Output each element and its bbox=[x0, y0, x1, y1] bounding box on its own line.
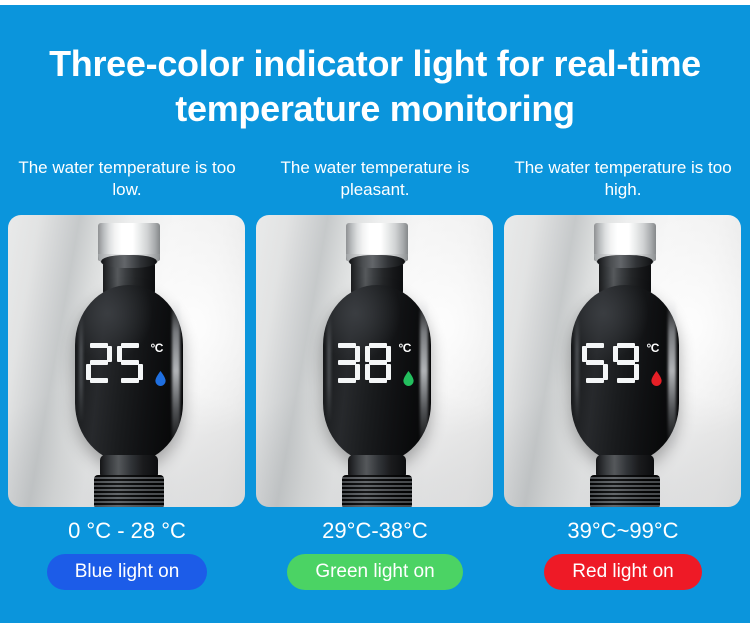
product-photo-green: °C bbox=[256, 215, 493, 507]
product-photo-row: °C bbox=[0, 215, 750, 507]
title-line-1: Three-color indicator light for real-tim… bbox=[49, 43, 701, 84]
celsius-unit: °C bbox=[399, 342, 411, 354]
caption-too-high: The water temperature is too high. bbox=[499, 157, 747, 201]
threaded-base bbox=[94, 475, 164, 507]
range-blue: 0 °C - 28 °C bbox=[3, 517, 251, 545]
product-photo-red: °C bbox=[504, 215, 741, 507]
lcd-display: °C bbox=[571, 343, 679, 405]
temperature-digits bbox=[86, 343, 143, 383]
pill-wrap-red: Red light on bbox=[499, 554, 747, 590]
lcd-display: °C bbox=[75, 343, 183, 405]
light-status-row: Blue light on Green light on Red light o… bbox=[0, 554, 750, 590]
threaded-base bbox=[590, 475, 660, 507]
water-drop-icon bbox=[403, 371, 414, 386]
water-drop-icon bbox=[651, 371, 662, 386]
product-photo-blue: °C bbox=[8, 215, 245, 507]
device-oval-body: °C bbox=[75, 285, 183, 463]
lcd-digit bbox=[117, 343, 143, 383]
device-lower-neck bbox=[596, 455, 654, 477]
lcd-digit bbox=[86, 343, 112, 383]
shower-thermometer-device: °C bbox=[565, 223, 685, 507]
page-title: Three-color indicator light for real-tim… bbox=[0, 41, 750, 131]
caption-row: The water temperature is too low. The wa… bbox=[0, 157, 750, 207]
device-oval-body: °C bbox=[323, 285, 431, 463]
lcd-display: °C bbox=[323, 343, 431, 405]
status-badge-blue-light: Blue light on bbox=[47, 554, 208, 590]
threaded-base bbox=[342, 475, 412, 507]
shower-thermometer-device: °C bbox=[317, 223, 437, 507]
status-badge-red-light: Red light on bbox=[544, 554, 701, 590]
temperature-range-row: 0 °C - 28 °C 29°C-38°C 39°C~99°C bbox=[0, 517, 750, 547]
water-drop-icon bbox=[155, 371, 166, 386]
lcd-digit bbox=[334, 343, 360, 383]
device-lower-neck bbox=[100, 455, 158, 477]
infographic-stage: Three-color indicator light for real-tim… bbox=[0, 5, 750, 623]
device-oval-body: °C bbox=[571, 285, 679, 463]
range-red: 39°C~99°C bbox=[499, 517, 747, 545]
device-lower-neck bbox=[348, 455, 406, 477]
status-badge-green-light: Green light on bbox=[287, 554, 462, 590]
lcd-digit bbox=[582, 343, 608, 383]
temperature-digits bbox=[582, 343, 639, 383]
caption-too-low: The water temperature is too low. bbox=[3, 157, 251, 201]
lcd-digit bbox=[365, 343, 391, 383]
pill-wrap-blue: Blue light on bbox=[3, 554, 251, 590]
lcd-digit bbox=[613, 343, 639, 383]
celsius-unit: °C bbox=[647, 342, 659, 354]
title-line-2: temperature monitoring bbox=[0, 86, 750, 131]
temperature-digits bbox=[334, 343, 391, 383]
shower-thermometer-device: °C bbox=[69, 223, 189, 507]
pill-wrap-green: Green light on bbox=[251, 554, 499, 590]
celsius-unit: °C bbox=[151, 342, 163, 354]
range-green: 29°C-38°C bbox=[251, 517, 499, 545]
caption-pleasant: The water temperature is pleasant. bbox=[251, 157, 499, 201]
